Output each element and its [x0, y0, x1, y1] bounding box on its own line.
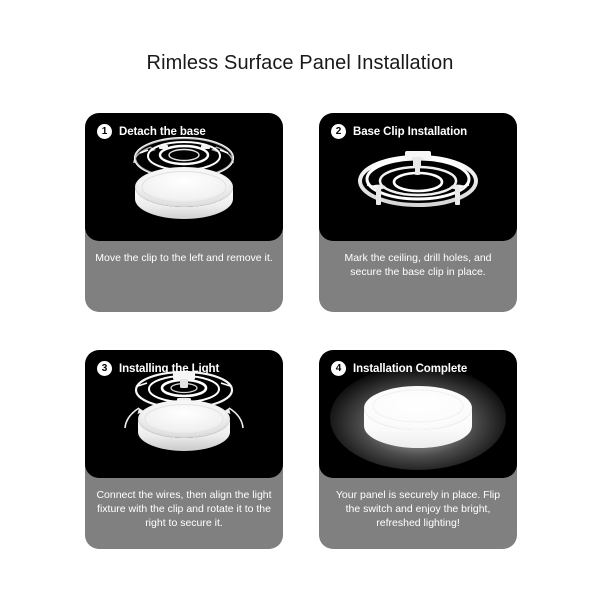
- step-number-badge-1: 1: [97, 124, 112, 139]
- step-title-1: Detach the base: [119, 126, 206, 138]
- step-number-badge-3: 3: [97, 361, 112, 376]
- step-header-2: 2 Base Clip Installation: [331, 124, 509, 139]
- step-card-3[interactable]: 3 Installing the Light Connect the wires…: [85, 350, 283, 549]
- steps-grid: 1 Detach the base Move the clip to the l…: [85, 113, 517, 549]
- installation-guide-page: Rimless Surface Panel Installation: [0, 0, 600, 599]
- step-title-2: Base Clip Installation: [353, 126, 467, 138]
- step-illustration-2: 2 Base Clip Installation: [319, 113, 517, 241]
- step-caption-4: Your panel is securely in place. Flip th…: [319, 478, 517, 549]
- step-title-4: Installation Complete: [353, 363, 467, 375]
- step-illustration-3: 3 Installing the Light: [85, 350, 283, 478]
- step-card-4[interactable]: 4 Installation Complete Your panel is se…: [319, 350, 517, 549]
- step-header-3: 3 Installing the Light: [97, 361, 275, 376]
- step-title-3: Installing the Light: [119, 363, 219, 375]
- step-card-2[interactable]: 2 Base Clip Installation Mark the ceilin…: [319, 113, 517, 312]
- page-title: Rimless Surface Panel Installation: [0, 52, 600, 75]
- step-caption-2: Mark the ceiling, drill holes, and secur…: [319, 241, 517, 312]
- step-header-1: 1 Detach the base: [97, 124, 275, 139]
- step-illustration-1: 1 Detach the base: [85, 113, 283, 241]
- step-caption-3: Connect the wires, then align the light …: [85, 478, 283, 549]
- step-number-badge-2: 2: [331, 124, 346, 139]
- step-header-4: 4 Installation Complete: [331, 361, 509, 376]
- step-card-1[interactable]: 1 Detach the base Move the clip to the l…: [85, 113, 283, 312]
- step-illustration-4: 4 Installation Complete: [319, 350, 517, 478]
- step-caption-1: Move the clip to the left and remove it.: [85, 241, 283, 312]
- step-number-badge-4: 4: [331, 361, 346, 376]
